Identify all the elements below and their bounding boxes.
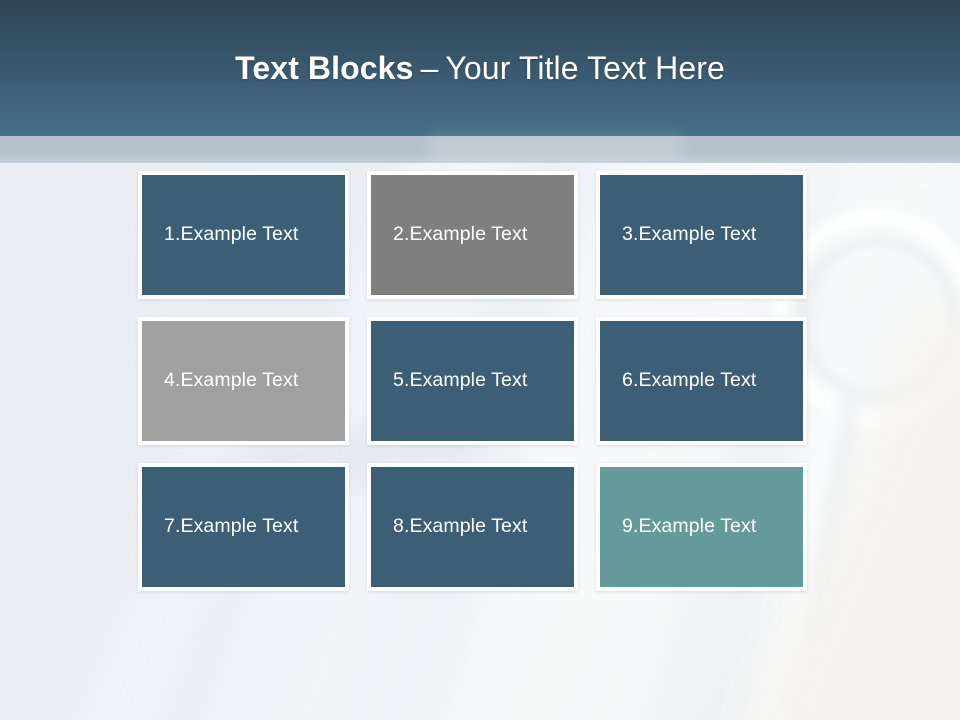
grid-gap [578, 171, 596, 299]
grid-gap [349, 445, 367, 463]
text-block-tile-4[interactable]: 4.Example Text [138, 317, 349, 445]
text-block-tile-6[interactable]: 6.Example Text [596, 317, 807, 445]
page-title: Text Blocks – Your Title Text Here [0, 0, 960, 136]
grid-gap [349, 299, 367, 317]
grid-gap [349, 317, 367, 445]
text-block-label: 4.Example Text [164, 371, 298, 391]
background-stethoscope-ring-inner [800, 238, 958, 400]
text-block-tile-7[interactable]: 7.Example Text [138, 463, 349, 591]
grid-gap [578, 299, 596, 317]
slide-header: Text Blocks – Your Title Text Here [0, 0, 960, 136]
grid-gap [578, 317, 596, 445]
text-block-tile-5[interactable]: 5.Example Text [367, 317, 578, 445]
text-block-tile-3[interactable]: 3.Example Text [596, 171, 807, 299]
text-block-label: 6.Example Text [622, 371, 756, 391]
text-block-label: 5.Example Text [393, 371, 527, 391]
text-block-tile-2[interactable]: 2.Example Text [367, 171, 578, 299]
grid-gap [596, 299, 807, 317]
text-block-label: 8.Example Text [393, 517, 527, 537]
text-blocks-grid: 1.Example Text 2.Example Text 3.Example … [138, 171, 822, 591]
grid-gap [578, 445, 596, 463]
text-block-tile-8[interactable]: 8.Example Text [367, 463, 578, 591]
text-block-label: 9.Example Text [622, 517, 756, 537]
text-block-tile-9[interactable]: 9.Example Text [596, 463, 807, 591]
header-band-highlight [430, 136, 680, 163]
page-title-dash: – [420, 50, 438, 87]
text-block-label: 7.Example Text [164, 517, 298, 537]
page-title-bold: Text Blocks [235, 50, 413, 87]
text-block-label: 2.Example Text [393, 225, 527, 245]
grid-gap [596, 445, 807, 463]
grid-gap [578, 463, 596, 591]
text-block-label: 1.Example Text [164, 225, 298, 245]
grid-gap [349, 171, 367, 299]
grid-gap [138, 299, 349, 317]
page-title-regular: Your Title Text Here [445, 50, 724, 87]
grid-gap [367, 299, 578, 317]
grid-gap [367, 445, 578, 463]
grid-gap [138, 445, 349, 463]
presentation-slide: Text Blocks – Your Title Text Here 1.Exa… [0, 0, 960, 720]
text-block-label: 3.Example Text [622, 225, 756, 245]
grid-gap [349, 463, 367, 591]
text-block-tile-1[interactable]: 1.Example Text [138, 171, 349, 299]
